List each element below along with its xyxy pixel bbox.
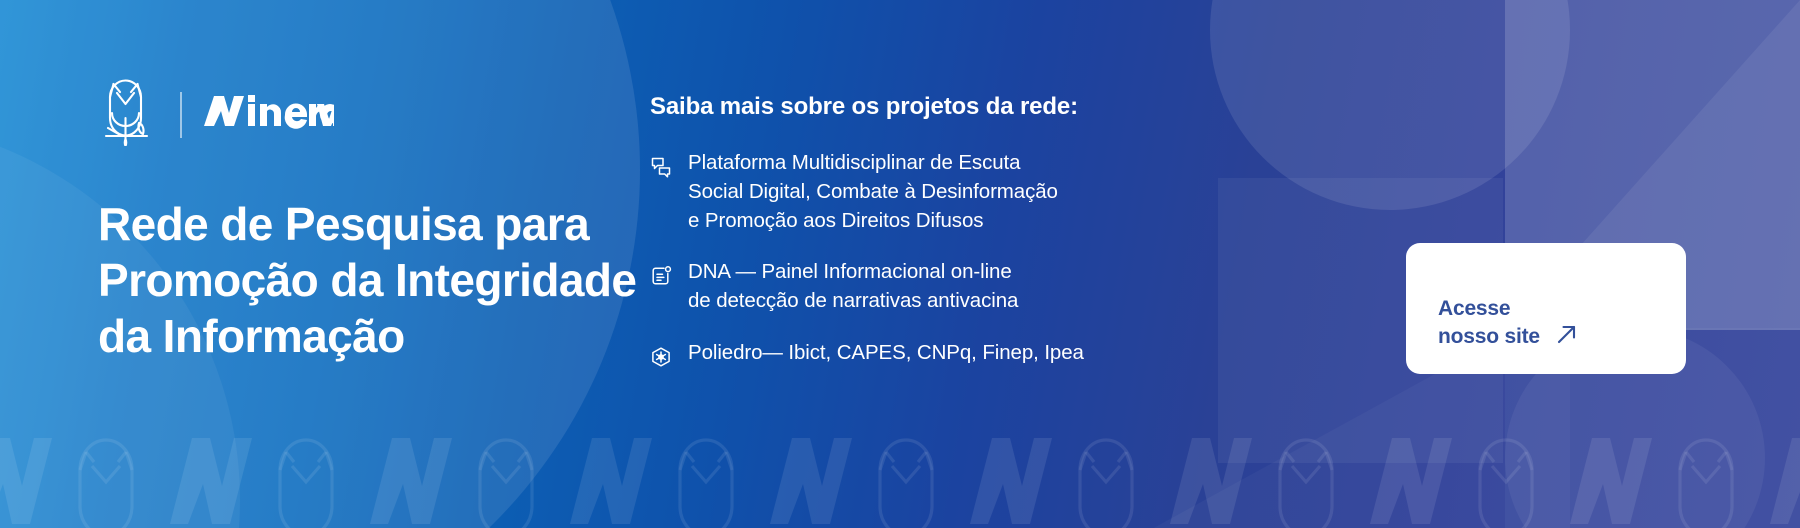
project-1-line-2: Social Digital, Combate à Desinformação [688, 177, 1058, 206]
brand-logo[interactable] [98, 78, 334, 151]
promotional-banner: Rede de Pesquisa para Promoção da Integr… [0, 0, 1800, 528]
project-2-line-1: DNA — Painel Informacional on-line [688, 257, 1018, 286]
minerva-wordmark [202, 92, 334, 137]
cta-line-1: Acesse [1438, 295, 1540, 322]
logo-divider [180, 92, 182, 138]
list-item[interactable]: Plataforma Multidisciplinar de Escuta So… [650, 148, 1190, 235]
list-item-text: DNA — Painel Informacional on-line de de… [688, 257, 1018, 315]
arrow-up-right-icon [1554, 321, 1580, 347]
project-1-line-3: e Promoção aos Direitos Difusos [688, 206, 1058, 235]
projects-column: Saiba mais sobre os projetos da rede: Pl… [650, 0, 1190, 528]
headline-line-1: Rede de Pesquisa para [98, 196, 698, 252]
project-3-line-1: Poliedro— Ibict, CAPES, CNPq, Finep, Ipe… [688, 338, 1084, 367]
list-item[interactable]: Poliedro— Ibict, CAPES, CNPq, Finep, Ipe… [650, 338, 1190, 368]
left-column: Rede de Pesquisa para Promoção da Integr… [98, 0, 698, 528]
hexagon-polyhedron-icon [650, 346, 672, 368]
access-site-button[interactable]: Acesse nosso site [1406, 243, 1686, 374]
project-2-line-2: de detecção de narrativas antivacina [688, 286, 1018, 315]
cta-inner: Acesse nosso site [1406, 295, 1580, 374]
cta-line-2: nosso site [1438, 323, 1540, 350]
cta-label: Acesse nosso site [1438, 295, 1540, 350]
list-item-text: Plataforma Multidisciplinar de Escuta So… [688, 148, 1058, 235]
list-item[interactable]: DNA — Painel Informacional on-line de de… [650, 257, 1190, 315]
headline-line-2: Promoção da Integridade [98, 252, 698, 308]
list-item-text: Poliedro— Ibict, CAPES, CNPq, Finep, Ipe… [688, 338, 1084, 367]
report-document-icon [650, 265, 672, 287]
page-title: Rede de Pesquisa para Promoção da Integr… [98, 196, 698, 364]
headline-line-3: da Informação [98, 308, 698, 364]
chat-bubbles-icon [650, 156, 672, 178]
projects-list: Plataforma Multidisciplinar de Escuta So… [650, 148, 1190, 390]
projects-title: Saiba mais sobre os projetos da rede: [650, 93, 1078, 121]
project-1-line-1: Plataforma Multidisciplinar de Escuta [688, 148, 1058, 177]
owl-icon [98, 78, 160, 151]
